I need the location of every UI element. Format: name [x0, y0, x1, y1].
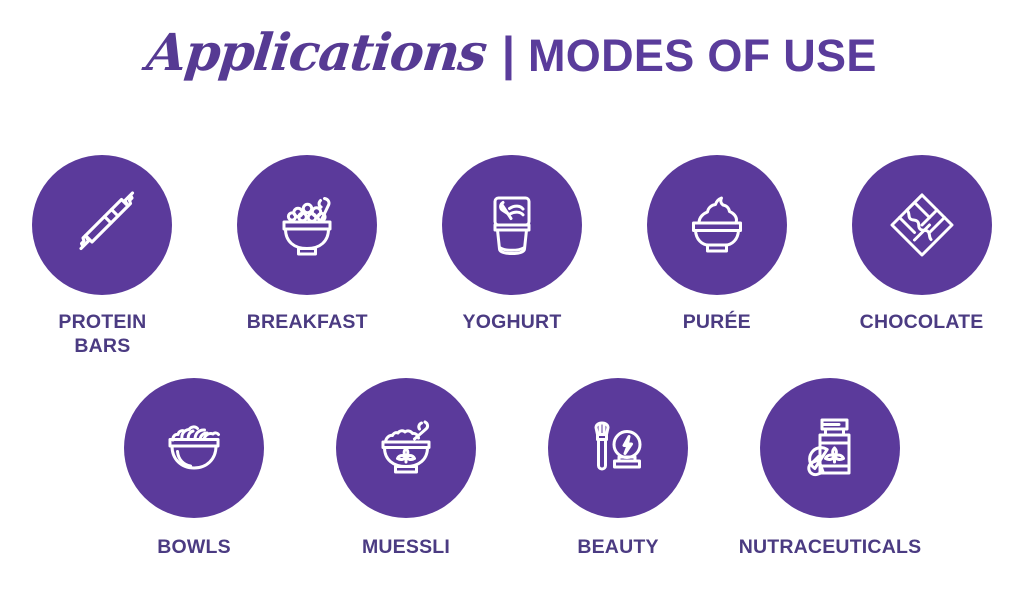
icon-circle [760, 378, 900, 518]
applications-row-2: BOWLS [0, 378, 1024, 560]
cereal-bowl-icon [264, 182, 350, 268]
application-label: MUESSLI [362, 536, 450, 560]
application-item-muessli[interactable]: MUESSLI [300, 378, 512, 560]
muessli-bowl-icon [363, 405, 449, 491]
chocolate-bar-icon [879, 182, 965, 268]
icon-circle [237, 155, 377, 295]
application-label: CHOCOLATE [860, 311, 984, 335]
icon-circle [442, 155, 582, 295]
application-item-beauty[interactable]: BEAUTY [512, 378, 724, 560]
title-main-words: MODES OF USE [528, 33, 877, 78]
application-label: BOWLS [157, 536, 231, 560]
title-script-word: Applications [145, 28, 489, 79]
icon-circle [548, 378, 688, 518]
application-item-yoghurt[interactable]: YOGHURT [410, 155, 615, 359]
application-item-bowls[interactable]: BOWLS [88, 378, 300, 560]
protein-bar-icon [59, 182, 145, 268]
application-label: YOGHURT [463, 311, 562, 335]
application-label: BREAKFAST [247, 311, 368, 335]
application-item-nutraceuticals[interactable]: NUTRACEUTICALS [724, 378, 936, 560]
application-item-puree[interactable]: PURÉE [614, 155, 819, 359]
icon-circle [32, 155, 172, 295]
application-item-chocolate[interactable]: CHOCOLATE [819, 155, 1024, 359]
application-label: BEAUTY [577, 536, 658, 560]
application-label: NUTRACEUTICALS [739, 536, 922, 560]
supplement-bottle-icon [787, 405, 873, 491]
page-title: Applications | MODES OF USE [0, 0, 1024, 110]
title-divider: | [502, 30, 515, 77]
application-item-protein-bars[interactable]: PROTEIN BARS [0, 155, 205, 359]
application-label: PROTEIN BARS [58, 311, 146, 359]
makeup-brush-mirror-icon [575, 405, 661, 491]
icon-circle [336, 378, 476, 518]
icon-circle [647, 155, 787, 295]
application-item-breakfast[interactable]: BREAKFAST [205, 155, 410, 359]
icon-circle [124, 378, 264, 518]
icon-circle [852, 155, 992, 295]
application-label: PURÉE [683, 311, 751, 335]
salad-bowl-icon [151, 405, 237, 491]
applications-row-1: PROTEIN BARS [0, 155, 1024, 359]
puree-bowl-icon [674, 182, 760, 268]
yoghurt-glass-icon [469, 182, 555, 268]
